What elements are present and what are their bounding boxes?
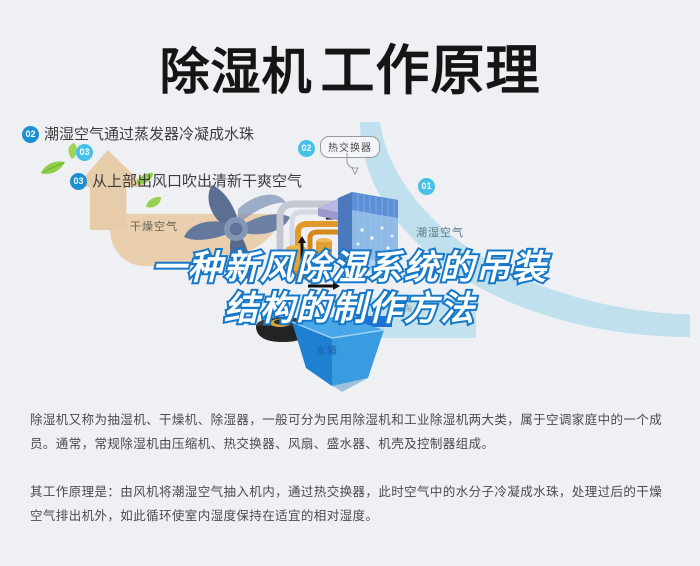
leaf-icon-4 bbox=[146, 196, 162, 215]
page-title-part1: 除湿机 bbox=[160, 32, 313, 104]
step-line-03: 03从上部出风口吹出清新干爽空气 bbox=[70, 167, 302, 197]
callout-pointer-icon bbox=[344, 153, 366, 175]
step-03-text: 从上部出风口吹出清新干爽空气 bbox=[92, 173, 302, 190]
badge-step-01-right: 01 bbox=[418, 178, 435, 195]
small-watermark-mark: 淘 bbox=[404, 303, 412, 314]
water-tank-label: 水箱 bbox=[316, 342, 338, 357]
step-03-number: 03 bbox=[70, 173, 87, 190]
page-title-part2: 工作原理 bbox=[321, 26, 541, 105]
body-paragraph-1: 除湿机又称为抽湿机、干燥机、除湿器，一般可分为民用除湿机和工业除湿机两大类，属于… bbox=[30, 408, 670, 456]
infographic-page: 除湿机工作原理 bbox=[0, 0, 700, 566]
step-line-02: 02潮湿空气通过蒸发器冷凝成水珠 bbox=[22, 120, 254, 150]
badge-step-02-top: 02 bbox=[298, 140, 315, 157]
water-tank-icon bbox=[288, 316, 388, 394]
label-humid-air: 潮湿空气 bbox=[416, 224, 464, 240]
page-title: 除湿机工作原理 bbox=[0, 26, 700, 105]
step-02-text: 潮湿空气通过蒸发器冷凝成水珠 bbox=[44, 126, 254, 143]
leaf-icon-1 bbox=[40, 160, 66, 181]
body-paragraph-2: 其工作原理是：由风机将潮湿空气抽入机内，通过热交换器，此时空气中的水分子冷凝成水… bbox=[30, 480, 670, 528]
body-copy: 除湿机又称为抽湿机、干燥机、除湿器，一般可分为民用除湿机和工业除湿机两大类，属于… bbox=[0, 408, 700, 528]
heat-exchanger-coil bbox=[312, 182, 404, 287]
step-02-number: 02 bbox=[22, 126, 39, 143]
label-dry-air: 干燥空气 bbox=[130, 218, 178, 234]
dehumidifier-diagram: 水箱 03 02 01 干燥空气 潮湿空气 热交换器 02潮湿空气通过蒸发器冷凝… bbox=[0, 120, 700, 405]
